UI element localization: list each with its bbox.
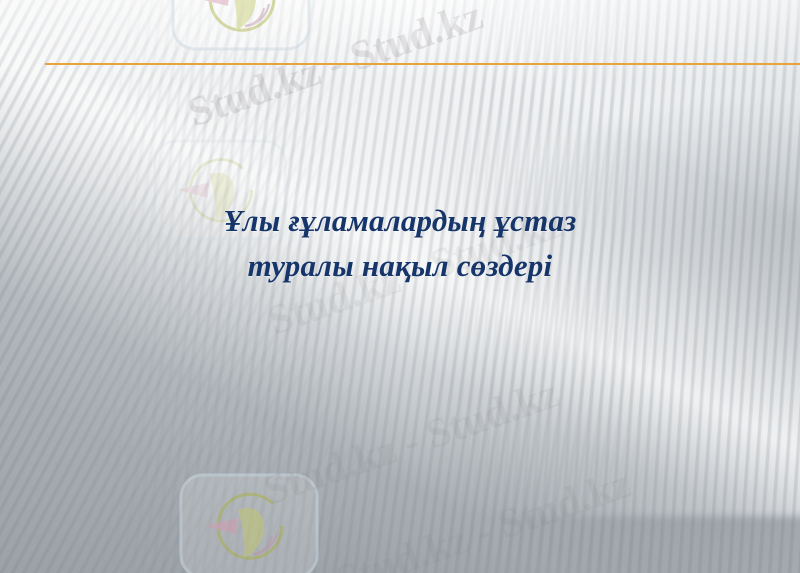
presentation-slide: Stud.kz - Stud.kz Stud.kz - Stud.kz Stud… [0,0,800,573]
header-divider-rule [45,63,800,65]
slide-title: Ұлы ғұламалардың ұстаз туралы нақыл сөзд… [0,198,800,288]
